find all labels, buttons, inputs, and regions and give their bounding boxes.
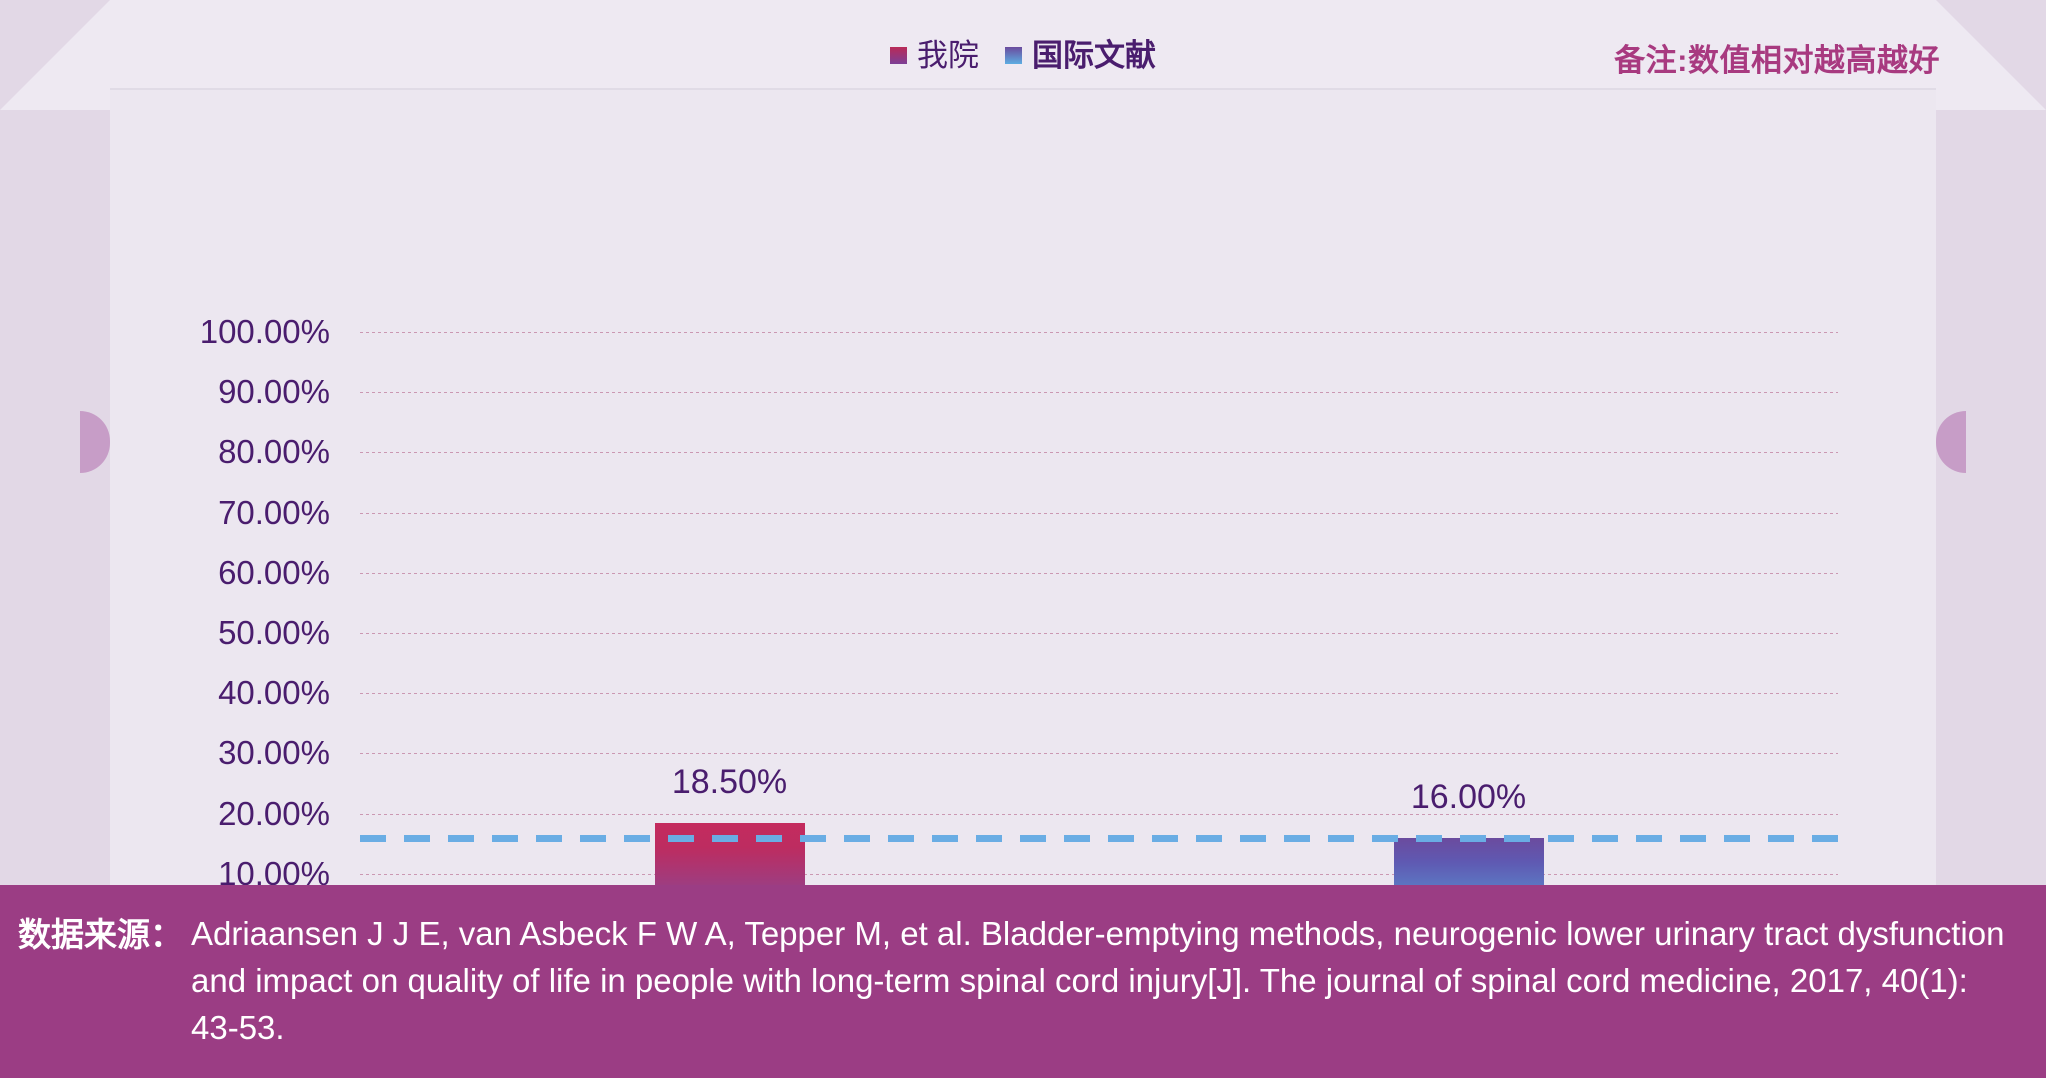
plot-area: 100.00%90.00%80.00%70.00%60.00%50.00%40.… xyxy=(0,150,2046,850)
y-axis-tick-label: 80.00% xyxy=(218,433,330,471)
gridline xyxy=(360,874,1838,875)
y-axis-tick-label: 70.00% xyxy=(218,494,330,532)
gridline xyxy=(360,513,1838,514)
plot-grid: 18.50%16.00% xyxy=(360,332,1838,934)
frame-bevel-top-right xyxy=(1936,0,2046,110)
gridline xyxy=(360,452,1838,453)
y-axis-tick-label: 20.00% xyxy=(218,795,330,833)
gridline xyxy=(360,332,1838,333)
y-axis-tick-label: 50.00% xyxy=(218,614,330,652)
y-axis-labels: 100.00%90.00%80.00%70.00%60.00%50.00%40.… xyxy=(170,332,330,934)
reference-line xyxy=(360,835,1838,842)
panel-top-divider xyxy=(110,88,1936,90)
gridline xyxy=(360,633,1838,634)
gridline xyxy=(360,392,1838,393)
frame-bevel-top-left xyxy=(0,0,110,110)
gridline xyxy=(360,753,1838,754)
bar-value-label: 16.00% xyxy=(1411,778,1526,817)
gridline xyxy=(360,573,1838,574)
source-footer: 数据来源： Adriaansen J J E, van Asbeck F W A… xyxy=(0,885,2046,1078)
source-citation: Adriaansen J J E, van Asbeck F W A, Tepp… xyxy=(191,911,2010,1052)
y-axis-tick-label: 90.00% xyxy=(218,373,330,411)
y-axis-tick-label: 100.00% xyxy=(200,313,330,351)
y-axis-tick-label: 40.00% xyxy=(218,674,330,712)
bar-value-label: 18.50% xyxy=(672,763,787,802)
gridline xyxy=(360,693,1838,694)
gridline xyxy=(360,814,1838,815)
chart-note: 备注:数值相对越高越好 xyxy=(1614,35,1940,80)
source-label: 数据来源： xyxy=(18,911,183,959)
y-axis-tick-label: 60.00% xyxy=(218,554,330,592)
y-axis-tick-label: 30.00% xyxy=(218,734,330,772)
